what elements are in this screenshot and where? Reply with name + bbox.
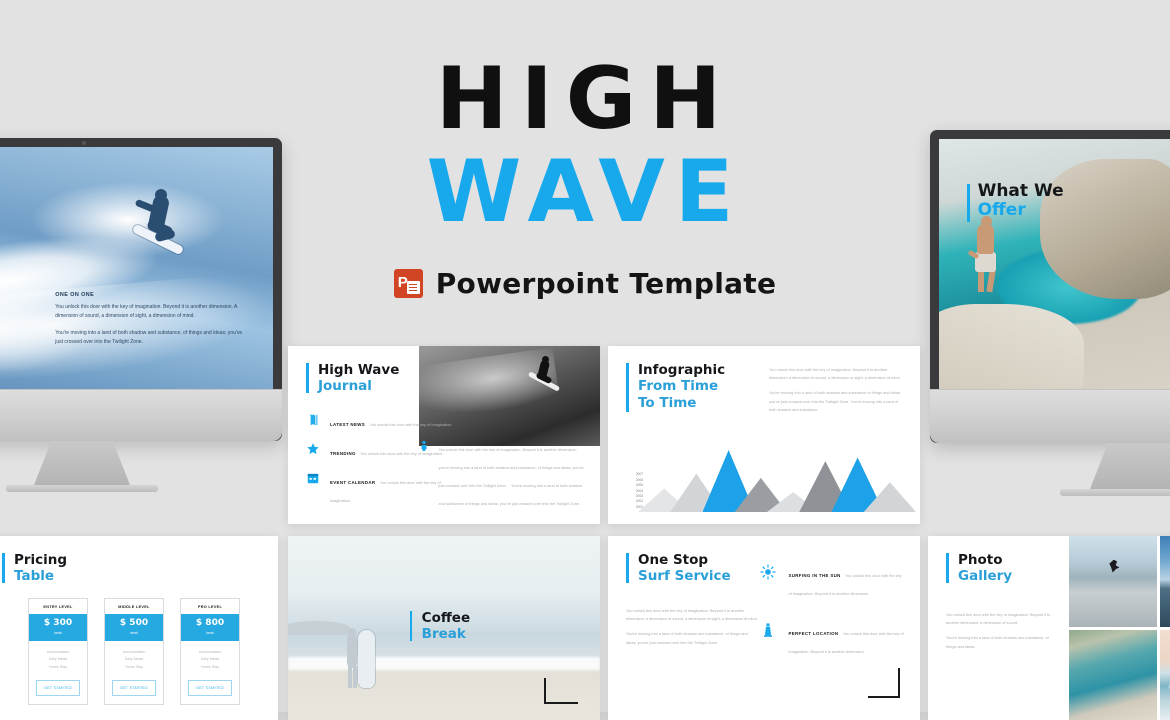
plan-feature: Daily Meals [181, 656, 239, 664]
infographic-paragraph-2: You're moving into a land of both shadow… [769, 389, 902, 414]
journal-title-block: High Wave Journal [306, 362, 582, 395]
slide-card-coffee-break[interactable]: Coffee Break [288, 536, 600, 720]
pricing-content: Pricing Table ENTRY LEVEL $ 300 /week Ac… [0, 536, 278, 720]
pricing-plans-row: ENTRY LEVEL $ 300 /week Accomodation Dai… [2, 598, 260, 706]
onestop-items-list: SURFING IN THE SUN You unlock this door … [760, 564, 904, 680]
pricing-plan-middle[interactable]: MIDDLE LEVEL $ 500 /week Accomodation Da… [104, 598, 164, 706]
gallery-title-line1: Photo [958, 552, 1059, 568]
plan-tier-label: MIDDLE LEVEL [105, 599, 163, 614]
surfer-with-board-silhouette-icon [344, 628, 388, 700]
rocky-coast-photo[interactable] [1069, 630, 1157, 720]
powerpoint-slide-glyph [407, 281, 420, 294]
onestop-item-title: SURFING IN THE SUN [788, 573, 840, 578]
coffee-title-line1: Coffee [422, 610, 470, 626]
gallery-paragraph-1: You unlock this door with the key of ima… [946, 611, 1059, 627]
gallery-photo-grid [1069, 536, 1170, 720]
plan-features: Accomodation Daily Meals Home Stay [181, 641, 239, 681]
sun-icon [760, 564, 776, 600]
onestop-title-line2: Surf Service [638, 568, 758, 584]
plan-feature: Accomodation [105, 649, 163, 657]
plan-period: /week [181, 631, 239, 635]
plan-cta-button[interactable]: GET STARTED [112, 680, 156, 696]
wave-foam [288, 657, 600, 670]
monitor-left-foot [6, 485, 158, 492]
monitor-left-stand [34, 441, 130, 485]
onestop-title-block: One Stop Surf Service [626, 552, 758, 585]
monitor-right-chin [930, 389, 1170, 443]
infographic-body-text: You unlock this door with the key of ima… [769, 362, 902, 414]
journal-footer-block: You unlock this door with the key of ima… [418, 438, 586, 510]
journal-item-latest-news[interactable]: LATEST NEWS You unlock this door with th… [306, 413, 455, 432]
journal-content: High Wave Journal LATEST NEWS You unlock… [288, 346, 600, 524]
slide-card-infographic[interactable]: Infographic From Time To Time You unlock… [608, 346, 920, 524]
lighthouse-sea-photo[interactable] [1160, 536, 1170, 627]
infographic-title-block: Infographic From Time To Time [626, 362, 753, 414]
slide-card-pricing[interactable]: Pricing Table ENTRY LEVEL $ 300 /week Ac… [0, 536, 278, 720]
gallery-title-block: Photo Gallery [946, 552, 1059, 585]
onestop-left-column: One Stop Surf Service You unlock this do… [626, 552, 758, 647]
powerpoint-icon: P [394, 269, 423, 298]
pricing-title-line1: Pricing [14, 552, 260, 568]
slide-card-journal[interactable]: High Wave Journal LATEST NEWS You unlock… [288, 346, 600, 524]
plan-period: /week [29, 631, 87, 635]
poster-canvas: HIGH WAVE P Powerpoint Template [0, 0, 1170, 720]
journal-item-title: TRENDING [330, 451, 356, 456]
coffee-title-block: Coffee Break [410, 610, 470, 643]
gallery-text-column: Photo Gallery You unlock this door with … [928, 536, 1069, 651]
person-icon [418, 438, 430, 510]
onestop-content: One Stop Surf Service You unlock this do… [608, 536, 920, 720]
star-icon [306, 442, 322, 461]
hero-line-high: HIGH [0, 56, 1170, 142]
wave-sunset-photo[interactable] [1160, 630, 1170, 720]
plan-feature: Daily Meals [105, 656, 163, 664]
pricing-title-block: Pricing Table [2, 552, 260, 585]
one-on-one-paragraph-1: You unlock this door with the key of ima… [55, 303, 246, 322]
plan-price-block: $ 500 /week [105, 614, 163, 641]
plan-cta-button[interactable]: GET STARTED [188, 680, 232, 696]
pricing-plan-pro[interactable]: PRO LEVEL $ 800 /week Accomodation Daily… [180, 598, 240, 706]
hero-subtitle: Powerpoint Template [436, 267, 777, 300]
one-on-one-paragraph-2: You're moving into a land of both shadow… [55, 329, 246, 348]
journal-title-line1: High Wave [318, 362, 582, 378]
pricing-plan-entry[interactable]: ENTRY LEVEL $ 300 /week Accomodation Dai… [28, 598, 88, 706]
plan-period: /week [105, 631, 163, 635]
plan-feature: Home Stay [181, 664, 239, 672]
infographic-paragraph-1: You unlock this door with the key of ima… [769, 366, 902, 382]
kitesurfer-photo[interactable] [1069, 536, 1157, 627]
journal-title-line2: Journal [318, 378, 582, 394]
onestop-body-text: You unlock this door with the key of ima… [626, 607, 758, 647]
corner-bracket [868, 668, 900, 698]
chart-y-axis-labels: 2007200620052004200320022001 [626, 472, 643, 512]
onestop-paragraph-1: You unlock this door with the key of ima… [626, 607, 758, 623]
monitor-right-foot [1060, 489, 1170, 496]
gallery-body-text: You unlock this door with the key of ima… [946, 611, 1059, 651]
infographic-content: Infographic From Time To Time You unlock… [608, 346, 920, 524]
hero-title-block: HIGH WAVE P Powerpoint Template [0, 56, 1170, 300]
onestop-paragraph-2: You're moving into a land of both shadow… [626, 630, 758, 646]
monitor-left-chin [0, 389, 282, 441]
book-icon [306, 413, 322, 432]
plan-feature: Accomodation [181, 649, 239, 657]
onestop-item-surfing-in-the-sun[interactable]: SURFING IN THE SUN You unlock this door … [760, 564, 904, 600]
journal-item-title: EVENT CALENDAR [330, 480, 375, 485]
plan-tier-label: ENTRY LEVEL [29, 599, 87, 614]
plan-price: $ 500 [105, 619, 163, 629]
pricing-title-line2: Table [14, 568, 260, 584]
journal-footer-paragraph-1: You unlock this door with the key of ima… [439, 447, 584, 488]
corner-bracket [544, 678, 578, 704]
plan-price-block: $ 300 /week [29, 614, 87, 641]
plan-tier-label: PRO LEVEL [181, 599, 239, 614]
plan-feature: Home Stay [105, 664, 163, 672]
plan-cta-button[interactable]: GET STARTED [36, 680, 80, 696]
hero-line-wave: WAVE [0, 146, 1170, 239]
plan-feature: Home Stay [29, 664, 87, 672]
monitor-right-stand [1090, 443, 1170, 489]
infographic-title-line2: From Time [638, 378, 753, 394]
plan-features: Accomodation Daily Meals Home Stay [29, 641, 87, 681]
chart-plot-area [648, 450, 906, 512]
infographic-header: Infographic From Time To Time You unlock… [626, 362, 902, 414]
onestop-title-line1: One Stop [638, 552, 758, 568]
infographic-title-line3: To Time [638, 395, 753, 411]
calendar-icon [306, 471, 322, 490]
journal-item-title: LATEST NEWS [330, 422, 365, 427]
hero-subtitle-row: P Powerpoint Template [0, 267, 1170, 300]
plan-features: Accomodation Daily Meals Home Stay [105, 641, 163, 681]
distant-hill [288, 621, 350, 636]
slide-one-on-one-text: ONE ON ONE You unlock this door with the… [55, 292, 246, 354]
onestop-item-perfect-location[interactable]: PERFECT LOCATION You unlock this door wi… [760, 622, 904, 658]
coffee-title-line2: Break [422, 626, 470, 642]
onestop-item-title: PERFECT LOCATION [788, 631, 838, 636]
plan-price-block: $ 800 /week [181, 614, 239, 641]
chart-y-tick: 2001 [626, 505, 643, 510]
slide-card-photo-gallery[interactable]: Photo Gallery You unlock this door with … [928, 536, 1170, 720]
journal-item-description: You unlock this door with the key of ima… [369, 422, 452, 427]
slide-card-one-stop[interactable]: One Stop Surf Service You unlock this do… [608, 536, 920, 720]
plan-price: $ 800 [181, 619, 239, 629]
mountain-chart: 2007200620052004200320022001 [626, 450, 906, 512]
plan-price: $ 300 [29, 619, 87, 629]
plan-feature: Daily Meals [29, 656, 87, 664]
lighthouse-icon [760, 622, 776, 658]
gallery-title-line2: Gallery [958, 568, 1059, 584]
gallery-paragraph-2: You're moving into a land of both shadow… [946, 634, 1059, 650]
plan-feature: Accomodation [29, 649, 87, 657]
infographic-title-line1: Infographic [638, 362, 753, 378]
